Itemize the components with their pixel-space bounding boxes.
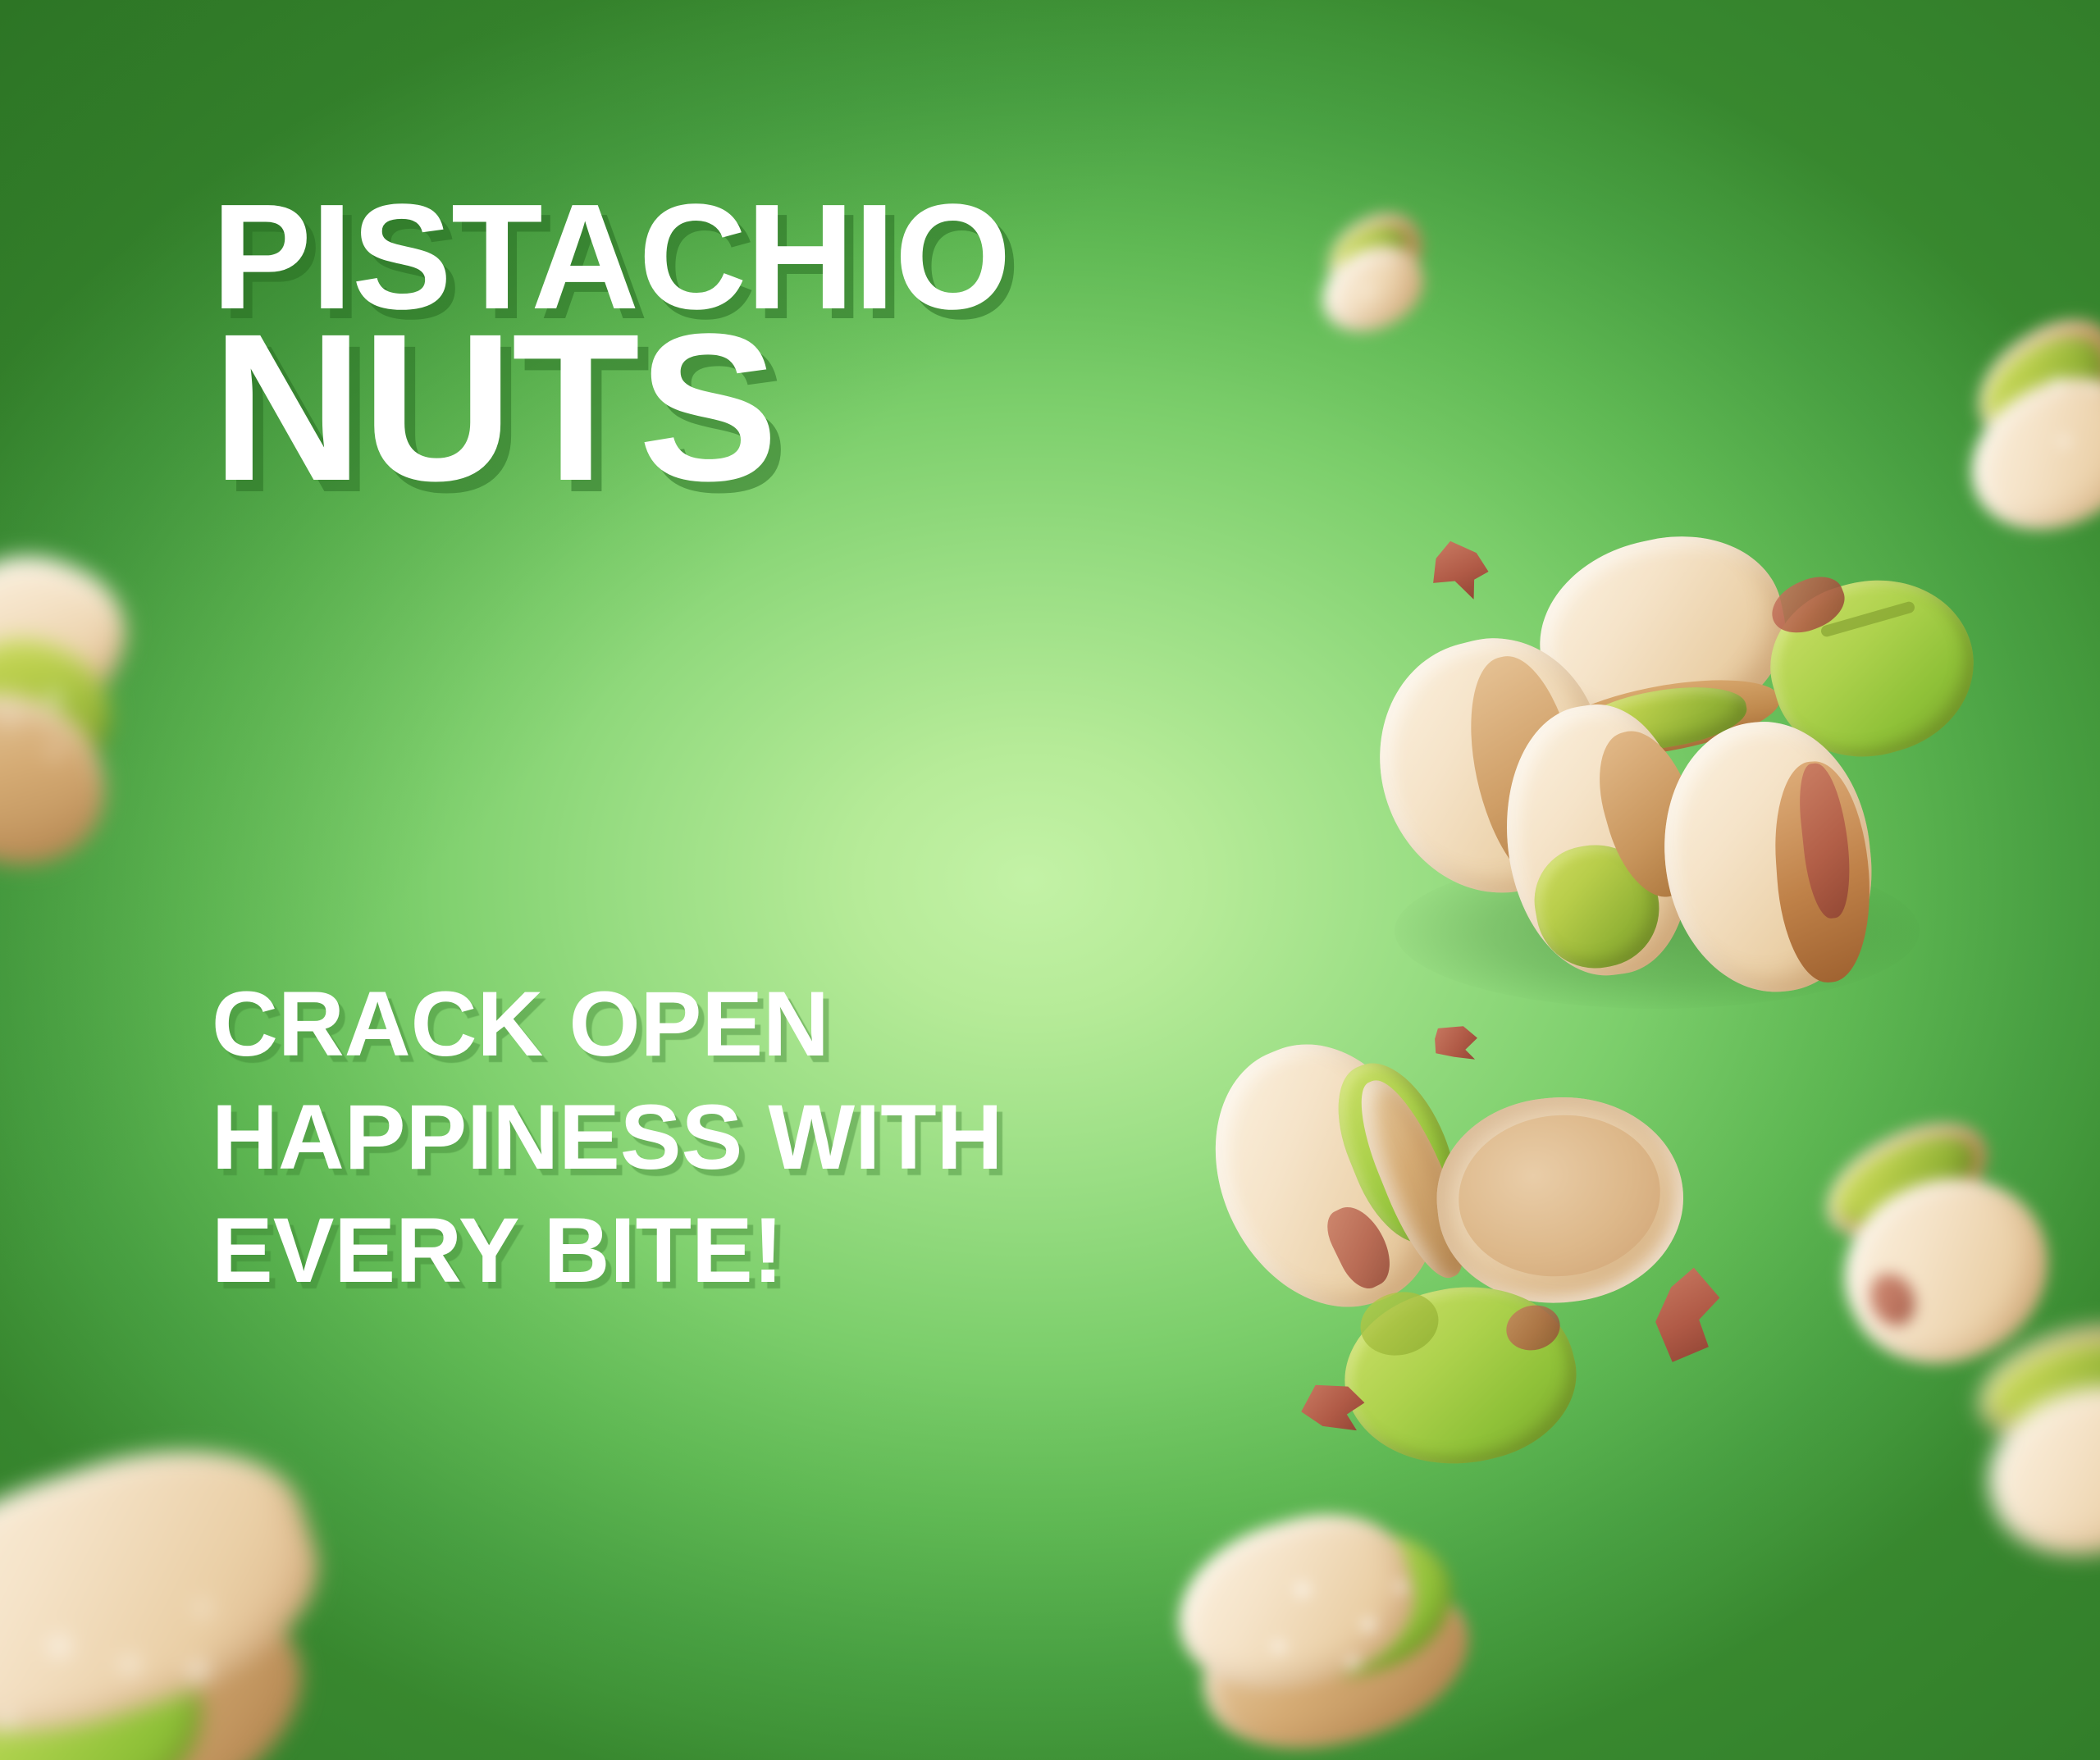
tagline-line-1: CRACK OPEN (212, 968, 1003, 1081)
tagline-line-2: HAPPINESS WITH (212, 1081, 1003, 1194)
skin-flake (1428, 539, 1493, 601)
poster-canvas: PISTACHIO NUTS CRACK OPEN HAPPINESS WITH… (0, 0, 2100, 1760)
pistachio-bare-kernel (1345, 1288, 1583, 1476)
pistachio-cluster-main (1386, 517, 2059, 943)
headline-block: PISTACHIO NUTS (212, 187, 1011, 505)
tagline-block: CRACK OPEN HAPPINESS WITH EVERY BITE! (212, 968, 1003, 1306)
headline-line-nuts: NUTS (212, 312, 1011, 505)
tagline-line-3: EVERY BITE! (212, 1194, 1003, 1307)
